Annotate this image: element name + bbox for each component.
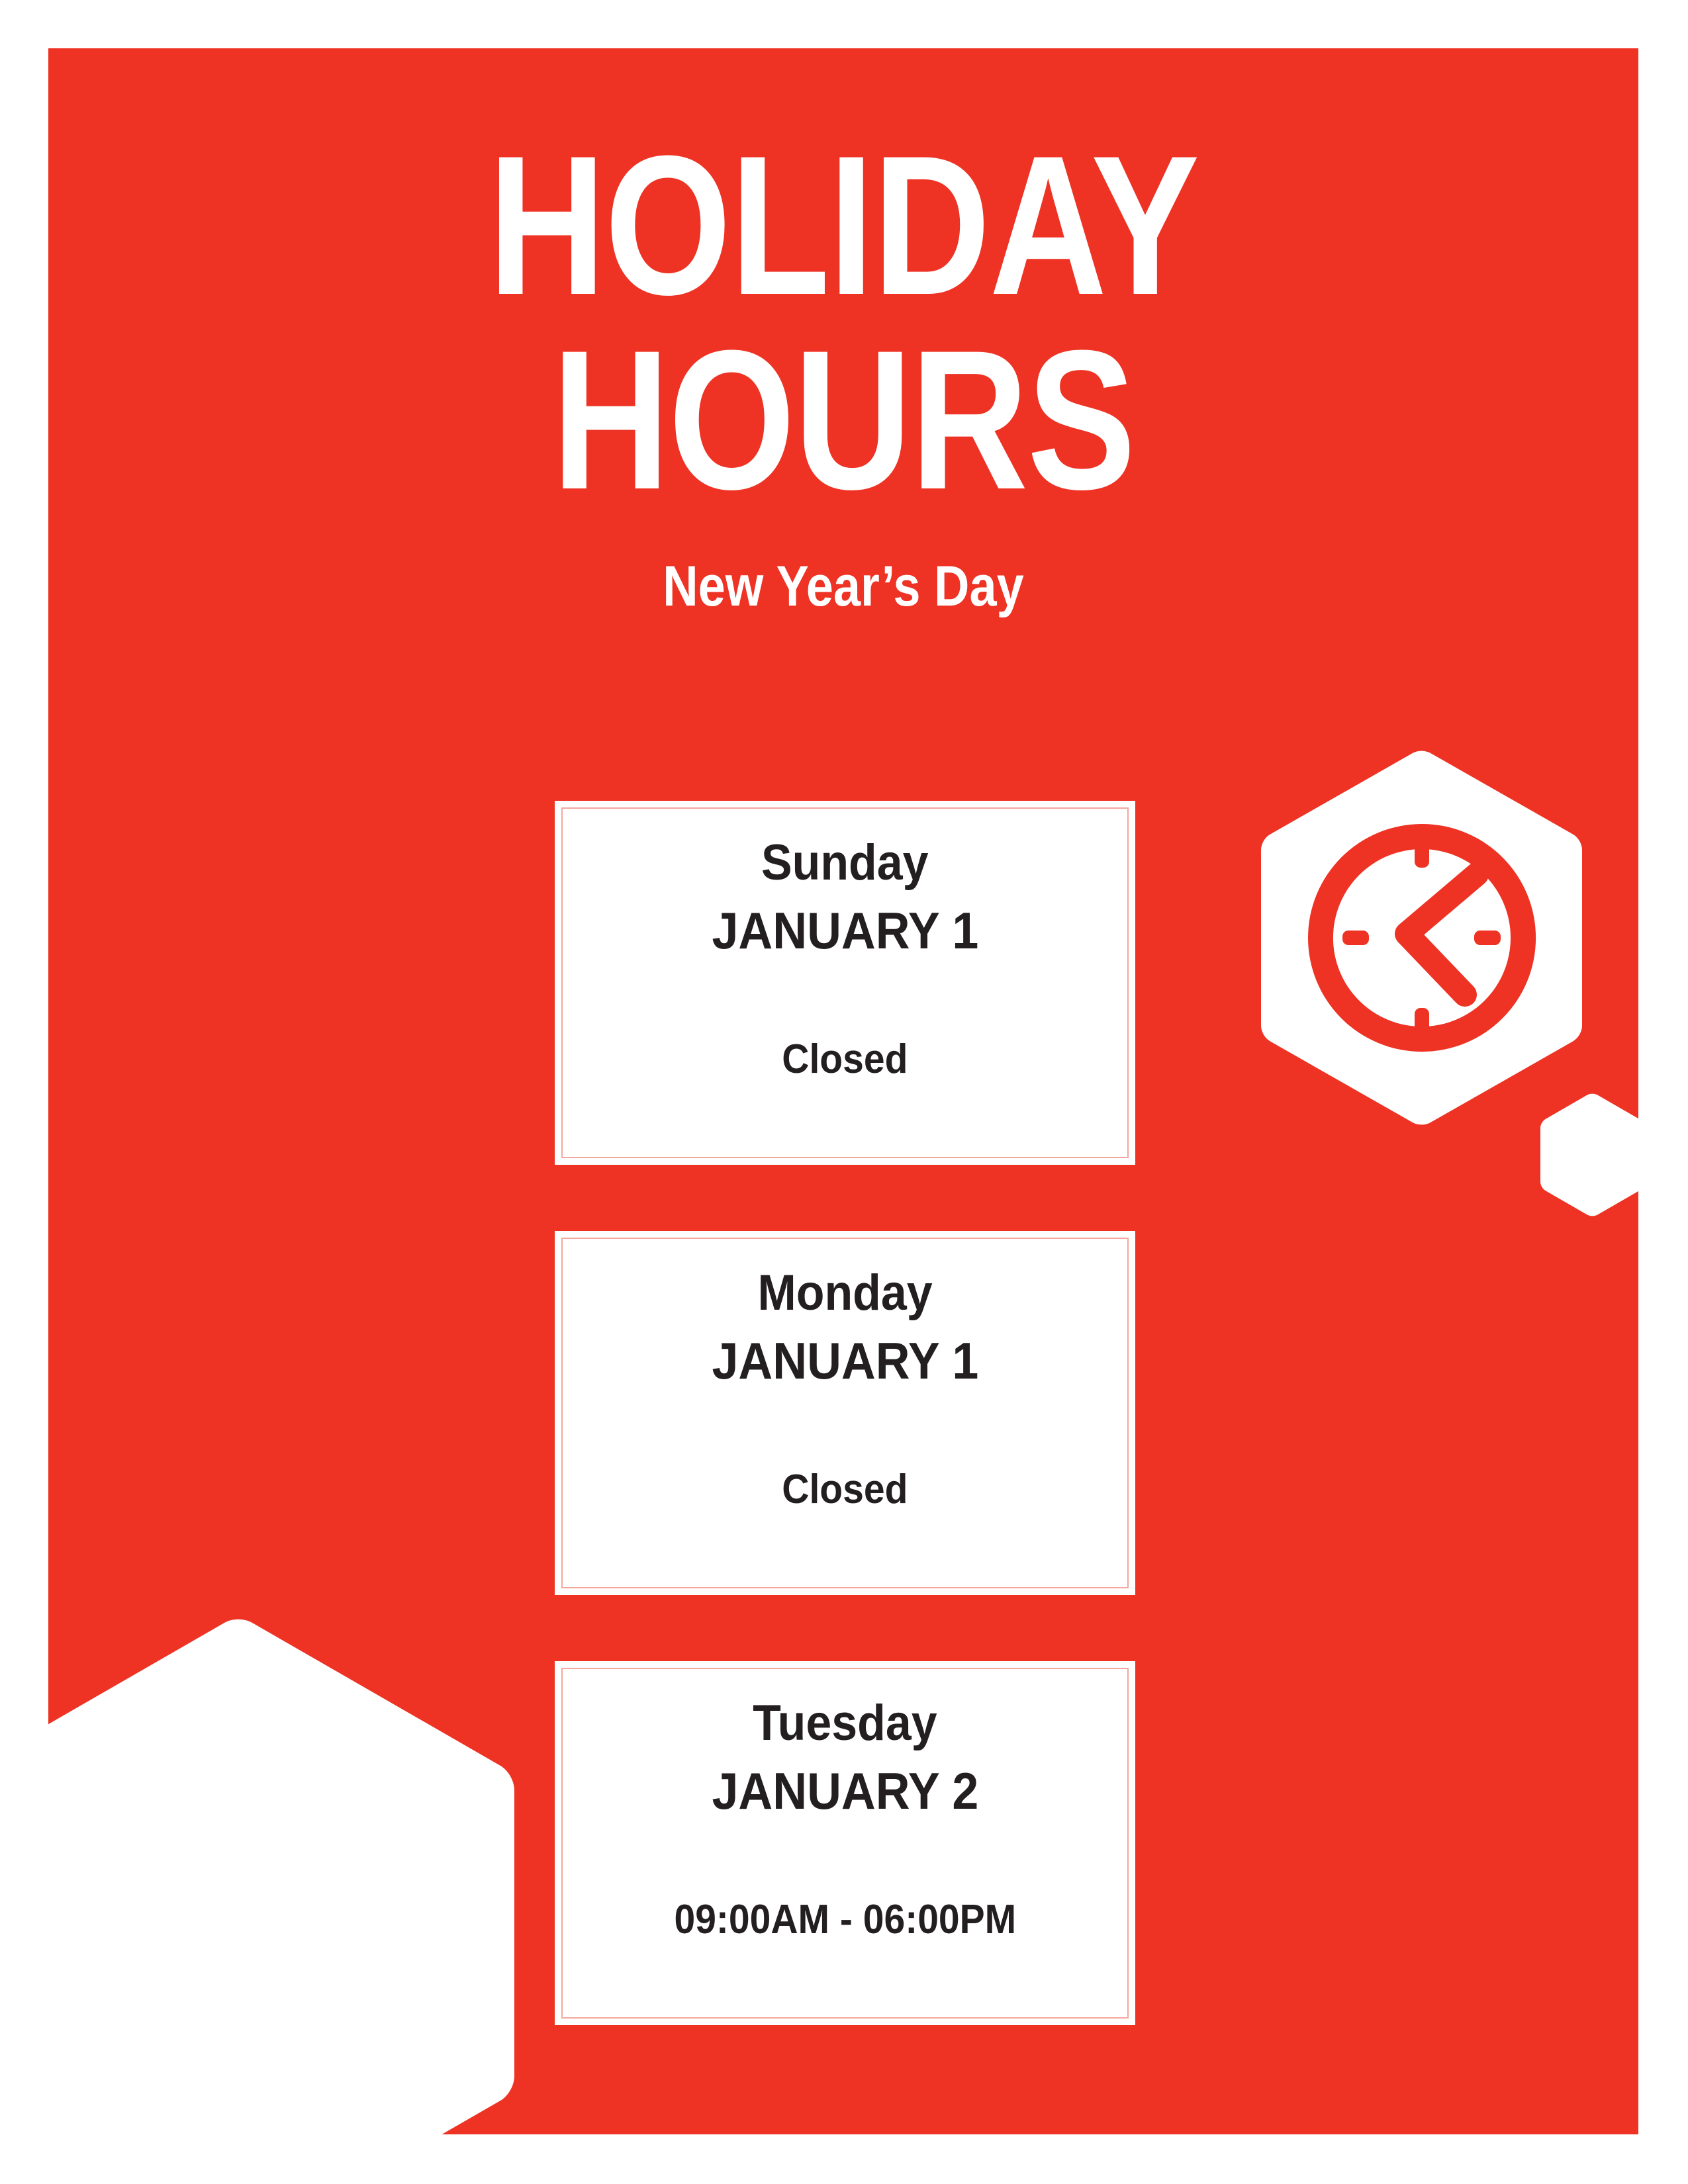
hours-card-date: JANUARY 1 — [712, 904, 978, 958]
hours-card-body: Monday JANUARY 1 Closed — [561, 1238, 1129, 1588]
poster-header: HOLIDAY HOURS New Year’s Day — [48, 128, 1638, 615]
list-item[interactable]: Tuesday JANUARY 2 09:00AM - 06:00PM — [555, 1661, 1135, 2025]
list-item[interactable]: Sunday JANUARY 1 Closed — [555, 801, 1135, 1165]
hours-card-hours: Closed — [782, 1468, 908, 1511]
hours-card-date: JANUARY 2 — [712, 1764, 978, 1819]
holiday-hours-list: Sunday JANUARY 1 Closed Monday JANUARY 1… — [555, 801, 1135, 2025]
page-subtitle: New Year’s Day — [160, 558, 1527, 615]
hours-card-day: Tuesday — [753, 1697, 937, 1750]
hours-card-hours: 09:00AM - 06:00PM — [674, 1898, 1016, 1941]
hours-card-body: Tuesday JANUARY 2 09:00AM - 06:00PM — [561, 1668, 1129, 2019]
list-item[interactable]: Monday JANUARY 1 Closed — [555, 1231, 1135, 1595]
small-hexagon-accent — [1536, 1093, 1638, 1217]
clock-badge — [1254, 750, 1589, 1126]
hexagon-shape — [1540, 1094, 1638, 1216]
corner-hexagon-accent — [48, 1570, 543, 2134]
hexagon-shape — [48, 1619, 514, 2134]
poster-canvas: HOLIDAY HOURS New Year’s Day — [0, 0, 1688, 2184]
hours-card-date: JANUARY 1 — [712, 1334, 978, 1388]
hours-card-day: Sunday — [761, 837, 929, 889]
hours-card-body: Sunday JANUARY 1 Closed — [561, 807, 1129, 1158]
page-title-line-1: HOLIDAY — [191, 128, 1495, 322]
poster-background-panel: HOLIDAY HOURS New Year’s Day — [48, 48, 1638, 2134]
hours-card-hours: Closed — [782, 1038, 908, 1081]
page-title-line-2: HOURS — [191, 322, 1495, 517]
hours-card-day: Monday — [757, 1267, 932, 1320]
